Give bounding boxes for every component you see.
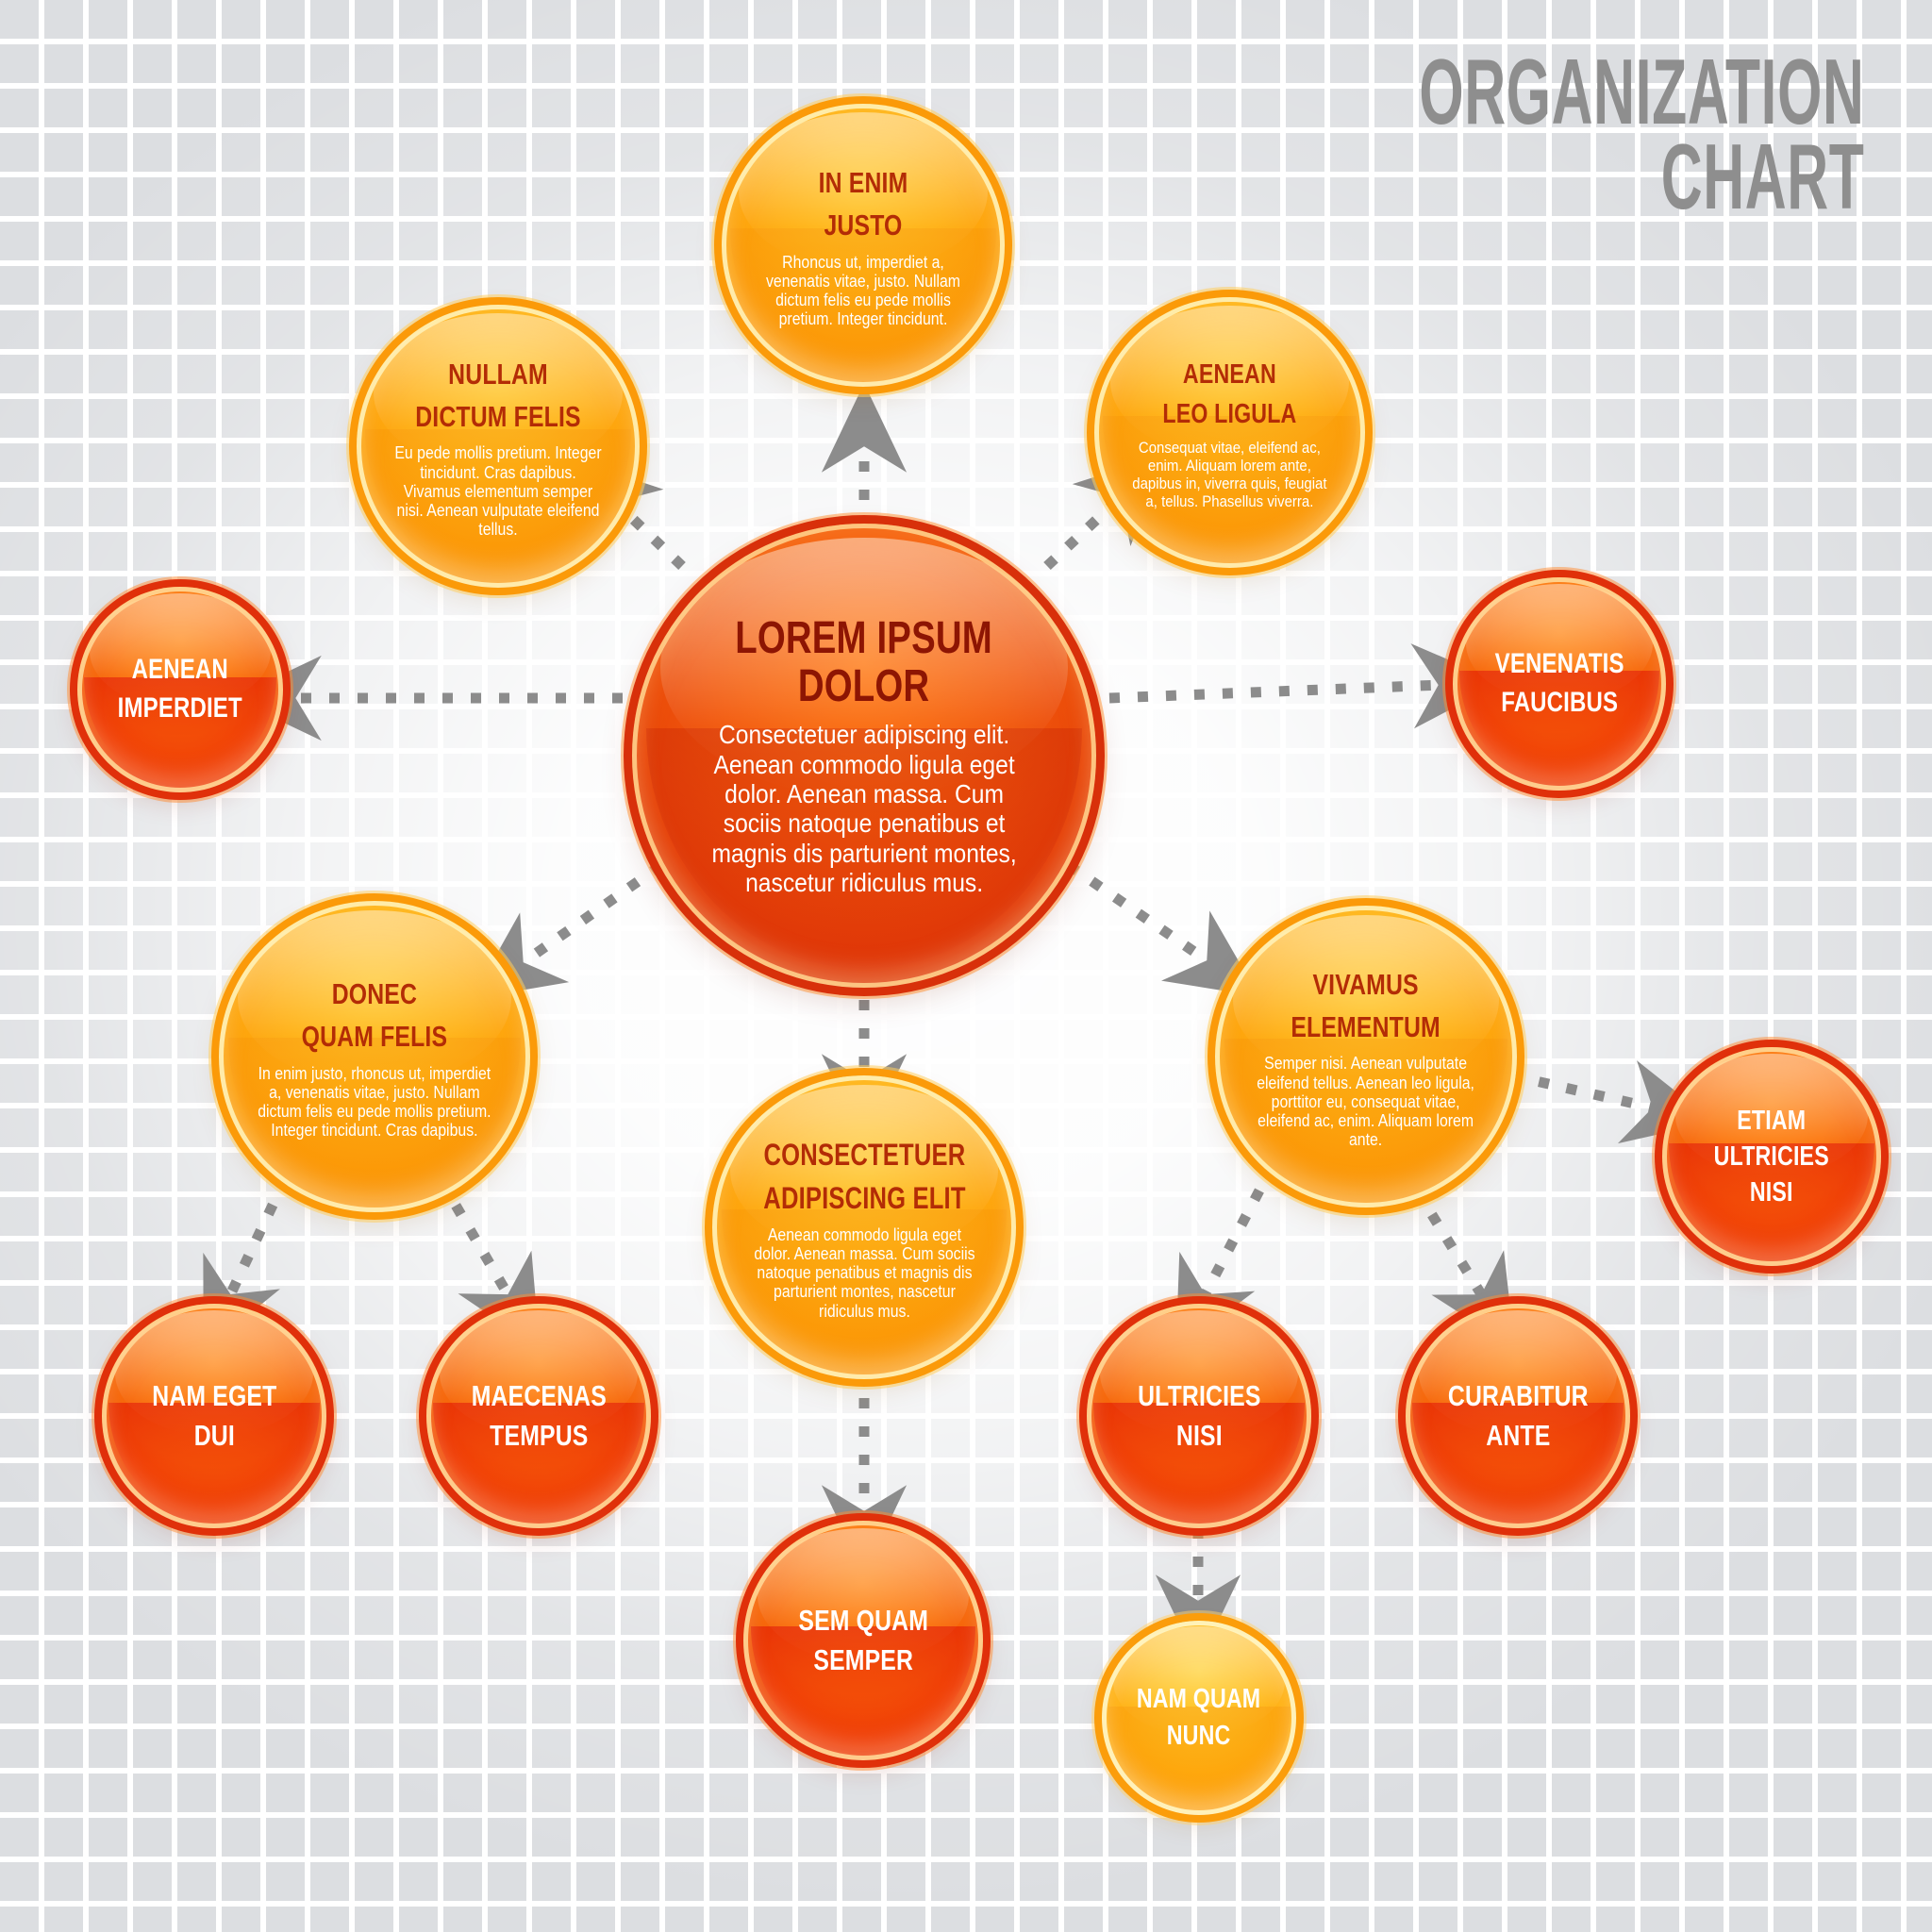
node-nam-eget-dui[interactable]: NAM EGET DUI [102, 1304, 326, 1528]
node-title-line-2: ADIPISCING ELIT [759, 1177, 969, 1220]
node-title-line-1: ETIAM [1696, 1103, 1847, 1139]
node-nullam-dictum-felis[interactable]: NULLAM DICTUM FELIS Eu pede mollis preti… [357, 305, 640, 588]
node-title-line-2: ANTE [1441, 1416, 1595, 1456]
node-in-enim-justo-title: IN ENIM JUSTO [766, 162, 960, 247]
node-center-title: LOREM IPSUM DOLOR [705, 614, 1024, 712]
node-title-line-1: NAM EGET [137, 1376, 291, 1416]
node-nam-quam-nunc-title: NAM QUAM NUNC [1132, 1681, 1266, 1756]
node-title-line-1: CURABITUR [1441, 1376, 1595, 1416]
node-consectetuer-adipiscing-elit[interactable]: CONSECTETUER ADIPISCING ELIT Aenean comm… [712, 1075, 1016, 1379]
node-donec-quam-felis-body: In enim justo, rhoncus ut, imperdiet a, … [257, 1064, 492, 1141]
node-ultricies-nisi[interactable]: ULTRICIES NISI [1087, 1304, 1311, 1528]
link-vivamus-curabitur-ante [1417, 1191, 1483, 1297]
node-etiam-ultricies-nisi-title: ETIAM ULTRICIES NISI [1696, 1103, 1847, 1211]
node-aenean-imperdiet-title: AENEAN IMPERDIET [109, 651, 251, 728]
node-title-line-1: AENEAN [109, 651, 251, 690]
node-center-lorem-ipsum-dolor[interactable]: LOREM IPSUM DOLOR Consectetuer adipiscin… [632, 524, 1096, 988]
node-title-line-2: NISI [1122, 1416, 1276, 1456]
node-title-line-1: ULTRICIES [1122, 1376, 1276, 1416]
link-center-vivamus-elementum [1045, 849, 1209, 962]
organization-chart-canvas: ORGANIZATION CHART LOREM IPSUM DOLOR Con… [0, 0, 1932, 1932]
link-vivamus-etiam-ultricies-nisi [1511, 1075, 1656, 1108]
node-title-line-1: CONSECTETUER [759, 1134, 969, 1176]
node-title-line-1: NAM QUAM [1132, 1681, 1266, 1718]
node-title-line-1: AENEAN [1137, 355, 1323, 394]
node-curabitur-ante[interactable]: CURABITUR ANTE [1406, 1304, 1630, 1528]
node-vivamus-elementum-title: VIVAMUS ELEMENTUM [1262, 964, 1470, 1049]
node-center-body: Consectetuer adipiscing elit. Aenean com… [695, 720, 1032, 897]
node-title-line-1: MAECENAS [461, 1376, 616, 1416]
node-nullam-dictum-felis-title: NULLAM DICTUM FELIS [401, 354, 595, 439]
node-sem-quam-semper[interactable]: SEM QUAM SEMPER [743, 1521, 983, 1760]
node-aenean-imperdiet[interactable]: AENEAN IMPERDIET [77, 587, 283, 792]
node-nullam-dictum-felis-body: Eu pede mollis pretium. Integer tincidun… [391, 443, 605, 539]
node-sem-quam-semper-title: SEM QUAM SEMPER [781, 1601, 946, 1680]
node-center-title-line-1: LOREM IPSUM [705, 614, 1024, 663]
node-nam-quam-nunc[interactable]: NAM QUAM NUNC [1102, 1621, 1296, 1815]
node-title-line-2: ELEMENTUM [1262, 1007, 1470, 1049]
node-maecenas-tempus-title: MAECENAS TEMPUS [461, 1376, 616, 1456]
node-aenean-leo-ligula[interactable]: AENEAN LEO LIGULA Consequat vitae, eleif… [1094, 297, 1365, 568]
node-title-line-1: SEM QUAM [781, 1601, 946, 1641]
node-in-enim-justo[interactable]: IN ENIM JUSTO Rhoncus ut, imperdiet a, v… [722, 104, 1005, 387]
node-vivamus-elementum-body: Semper nisi. Aenean vulputate eleifend t… [1252, 1054, 1480, 1149]
node-venenatis-faucibus[interactable]: VENENATIS FAUCIBUS [1453, 577, 1666, 791]
node-in-enim-justo-body: Rhoncus ut, imperdiet a, venenatis vitae… [756, 253, 970, 329]
node-center-title-line-2: DOLOR [705, 662, 1024, 711]
node-maecenas-tempus[interactable]: MAECENAS TEMPUS [426, 1304, 651, 1528]
node-title-line-2: JUSTO [766, 205, 960, 247]
node-donec-quam-felis-title: DONEC QUAM FELIS [267, 974, 481, 1058]
page-title: ORGANIZATION CHART [1419, 49, 1864, 219]
node-title-line-1: VENENATIS [1486, 645, 1632, 684]
node-aenean-leo-ligula-title: AENEAN LEO LIGULA [1137, 355, 1323, 434]
node-title-line-2: QUAM FELIS [267, 1016, 481, 1058]
node-nam-eget-dui-title: NAM EGET DUI [137, 1376, 291, 1456]
node-title-line-1: DONEC [267, 974, 481, 1016]
node-consectetuer-body: Aenean commodo ligula eget dolor. Aenean… [749, 1225, 979, 1321]
node-title-line-2: SEMPER [781, 1641, 946, 1680]
title-line-2: CHART [1419, 134, 1864, 219]
node-title-line-2: TEMPUS [461, 1416, 616, 1456]
node-etiam-ultricies-nisi[interactable]: ETIAM ULTRICIES NISI [1662, 1047, 1881, 1266]
node-title-line-2: LEO LIGULA [1137, 394, 1323, 434]
link-vivamus-ultricies-nisi [1204, 1191, 1259, 1297]
node-vivamus-elementum[interactable]: VIVAMUS ELEMENTUM Semper nisi. Aenean vu… [1215, 906, 1517, 1207]
node-title-line-2: ULTRICIES [1696, 1139, 1847, 1174]
node-title-line-1: IN ENIM [766, 162, 960, 205]
link-donec-maecenas-tempus [441, 1181, 509, 1297]
node-title-line-1: NULLAM [401, 354, 595, 396]
node-title-line-2: IMPERDIET [109, 690, 251, 728]
link-center-venenatis-faucibus [1109, 685, 1441, 698]
node-ultricies-nisi-title: ULTRICIES NISI [1122, 1376, 1276, 1456]
node-title-line-2: DICTUM FELIS [401, 396, 595, 439]
link-center-aenean-leo-ligula [1047, 495, 1123, 566]
node-consectetuer-title: CONSECTETUER ADIPISCING ELIT [759, 1134, 969, 1220]
node-aenean-leo-ligula-body: Consequat vitae, eleifend ac, enim. Aliq… [1127, 439, 1332, 510]
node-title-line-2: DUI [137, 1416, 291, 1456]
node-donec-quam-felis[interactable]: DONEC QUAM FELIS In enim justo, rhoncus … [219, 901, 530, 1212]
node-title-line-1: VIVAMUS [1262, 964, 1470, 1007]
node-title-line-2: FAUCIBUS [1486, 684, 1632, 723]
link-donec-nam-eget-dui [229, 1179, 285, 1297]
node-title-line-3: NISI [1696, 1174, 1847, 1210]
node-title-line-2: NUNC [1132, 1718, 1266, 1755]
node-venenatis-faucibus-title: VENENATIS FAUCIBUS [1486, 645, 1632, 723]
node-curabitur-ante-title: CURABITUR ANTE [1441, 1376, 1595, 1456]
